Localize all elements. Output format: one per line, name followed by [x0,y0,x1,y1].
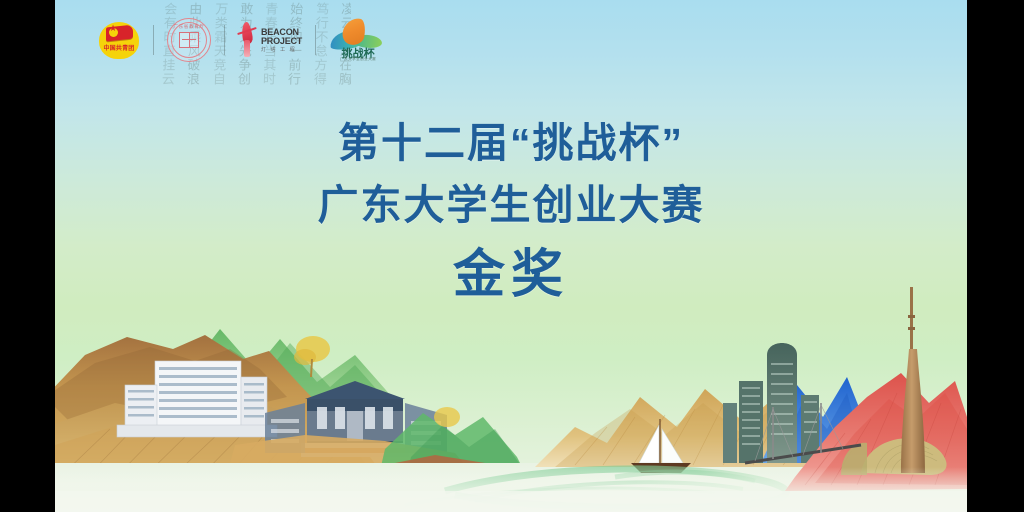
seal-arc-text: 广东省教育厅 [168,24,210,30]
education-seal-icon: 广东省教育厅 [167,18,211,62]
torch-icon [238,22,256,58]
organizer-logo-strip: 中国共青团 广东省教育厅 [85,16,400,64]
logo-communist-youth-league: 中国共青团 [85,16,153,64]
communist-youth-league-icon: 中国共青团 [98,19,140,61]
challenge-cup-icon: 挑战杯 广东大学生创业大赛 [329,18,387,62]
beacon-line2: PROJECT [261,37,302,46]
letterbox-bar-right [967,0,1024,512]
award-title-block: 第十二届“挑战杯” 广东大学生创业大赛 金奖 [55,112,967,308]
logo-beacon-project: BEACON PROJECT 灯 塔 工 程 [225,16,315,64]
logo-education-department: 广东省教育厅 [154,16,224,64]
cyl-emblem-text: 中国共青团 [98,43,140,52]
logo-challenge-cup: 挑战杯 广东大学生创业大赛 [316,16,400,64]
title-line-edition: 第十二届“挑战杯” [55,112,967,174]
presentation-slide: 凌云之志在胸 笃行不怠方得 始终如一前行 青春正当其时 敢为人先争创 万类霜天竞… [55,0,967,512]
title-line-competition: 广东大学生创业大赛 [55,174,967,236]
letterbox-bar-left [0,0,55,512]
challenge-cup-sub-text: 广东大学生创业大赛 [329,57,387,62]
landscape-illustration [55,277,967,512]
title-line-award: 金奖 [55,243,967,308]
beacon-line3: 灯 塔 工 程 [261,48,302,53]
slide-stage: 凌云之志在胸 笃行不怠方得 始终如一前行 青春正当其时 敢为人先争创 万类霜天竞… [0,0,1024,512]
